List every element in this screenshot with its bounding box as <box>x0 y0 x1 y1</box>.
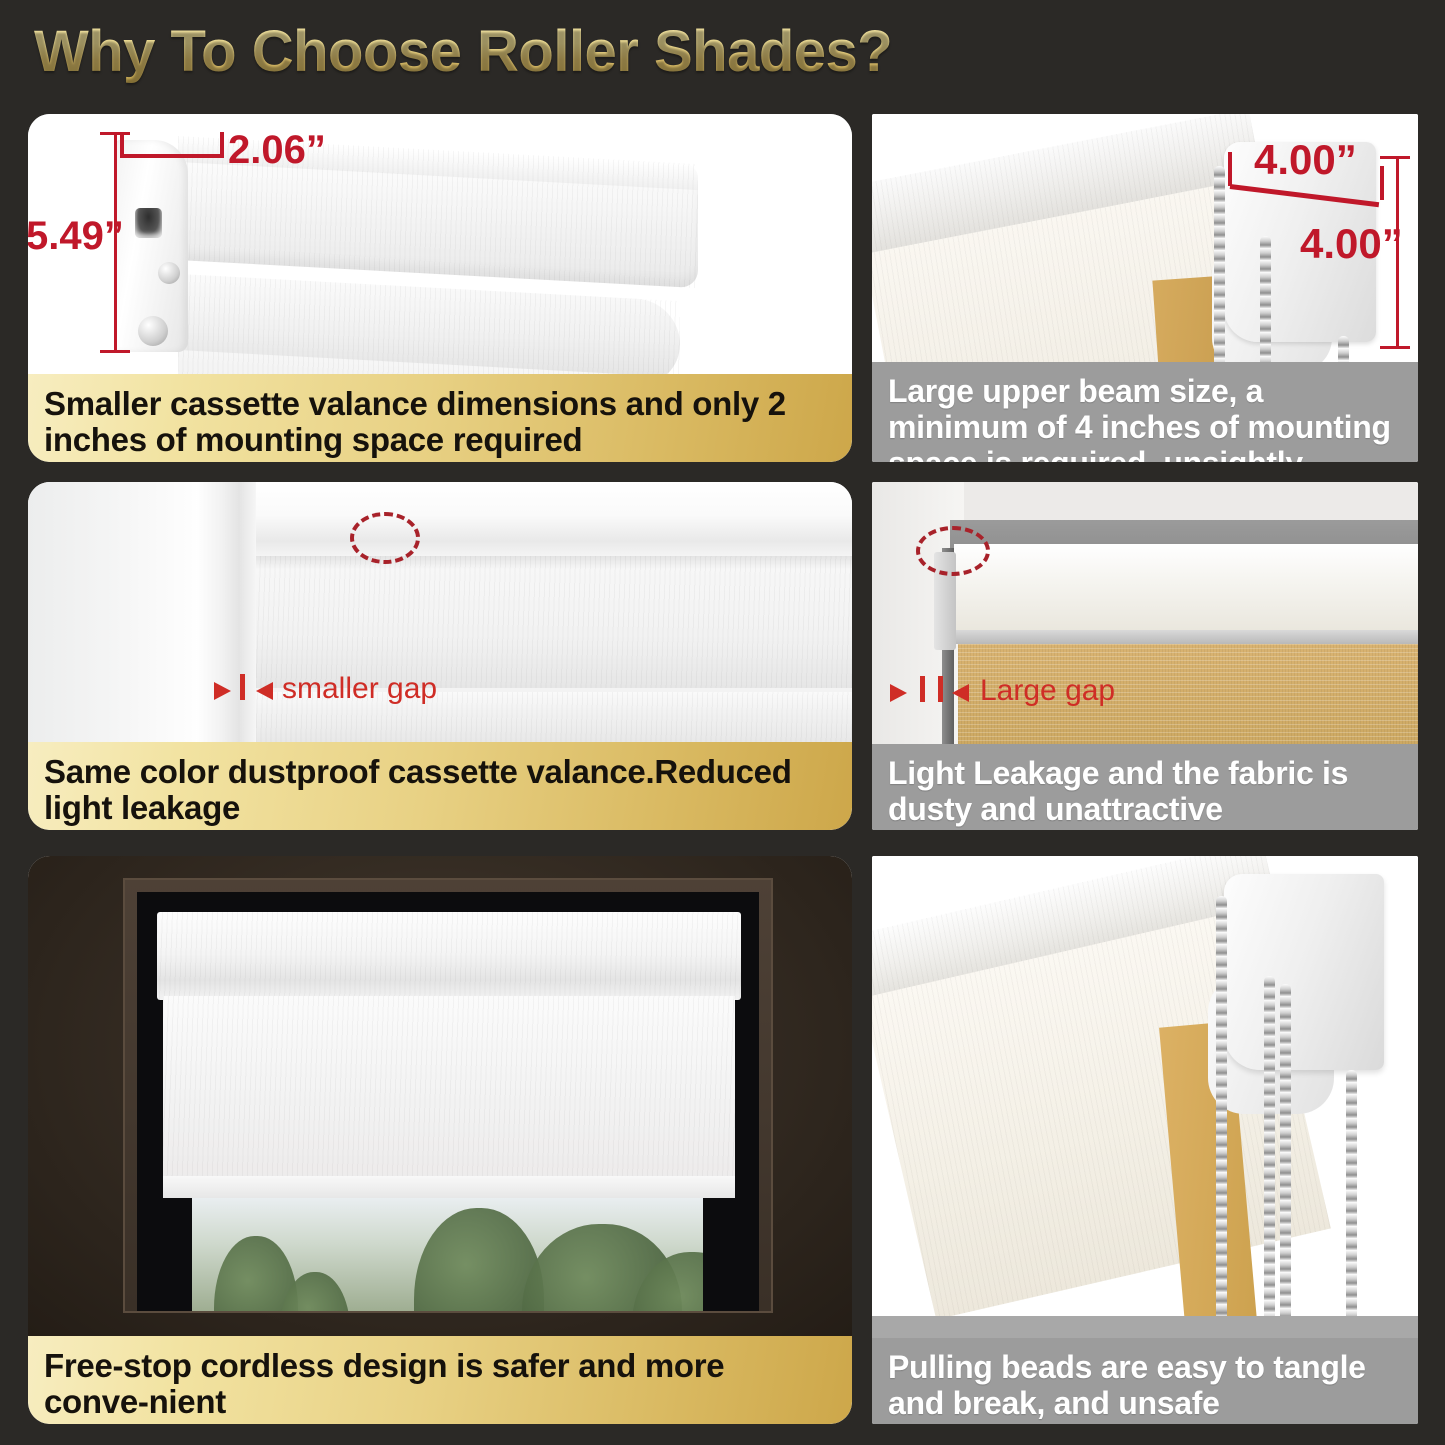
page-title: Why To Choose Roller Shades? <box>34 18 892 85</box>
gap-tick <box>938 676 943 702</box>
panel-2-caption-text: Large upper beam size, a minimum of 4 in… <box>888 374 1402 462</box>
width-dim-tick-left <box>1228 152 1232 186</box>
height-dim-tick-bottom <box>100 350 130 353</box>
panel-cordless-design: Free-stop cordless design is safer and m… <box>28 856 852 1424</box>
panel-3-photo: smaller gap <box>28 482 852 742</box>
gap-arrow-left <box>214 682 231 700</box>
panel-5-caption-band: Free-stop cordless design is safer and m… <box>28 1336 852 1424</box>
panel-3-caption-band: Same color dustproof cassette valance.Re… <box>28 742 852 830</box>
gap-arrow-right <box>952 684 969 702</box>
highlight-ellipse <box>350 512 420 564</box>
panel-large-beam: 4.00” 4.00” Large upper beam size, a min… <box>872 114 1418 462</box>
panel-smaller-cassette: 2.06” 5.49” Smaller cassette valance dim… <box>28 114 852 462</box>
roller-shade-fabric <box>163 996 735 1192</box>
panel-6-caption-text: Pulling beads are easy to tangle and bre… <box>888 1350 1402 1422</box>
panel-5-caption-text: Free-stop cordless design is safer and m… <box>44 1348 836 1420</box>
gap-tick <box>240 674 245 700</box>
panel-light-leakage: Large gap Light Leakage and the fabric i… <box>872 482 1418 830</box>
highlight-ellipse <box>916 526 990 576</box>
width-dim-tick-right <box>1380 166 1384 200</box>
width-dim-tick-right <box>220 132 224 158</box>
panel-3-caption-text: Same color dustproof cassette valance.Re… <box>44 754 836 826</box>
height-dim-tick-bottom <box>1380 346 1410 349</box>
bottom-rail <box>163 1176 735 1198</box>
bead-chain <box>1260 236 1271 376</box>
bead-chain <box>1216 896 1227 1324</box>
infographic-root: Why To Choose Roller Shades? 2.06” 5. <box>0 0 1445 1445</box>
bead-chain <box>1280 984 1291 1324</box>
height-dimension-label: 5.49” <box>28 214 124 259</box>
bead-chain <box>1346 1070 1357 1324</box>
panel-4-caption-text: Light Leakage and the fabric is dusty an… <box>888 756 1402 828</box>
panel-6-photo <box>872 856 1418 1338</box>
height-dim-tick-top <box>1380 156 1410 159</box>
panel-2-caption-band: Large upper beam size, a minimum of 4 in… <box>872 362 1418 462</box>
height-dimension-label: 4.00” <box>1300 220 1403 268</box>
panel-2-photo: 4.00” 4.00” <box>872 114 1418 376</box>
bead-chain <box>1264 976 1275 1324</box>
panel-1-caption-text: Smaller cassette valance dimensions and … <box>44 386 836 458</box>
width-dimension-label: 4.00” <box>1254 136 1357 184</box>
gap-arrow-left <box>890 684 907 702</box>
gap-tick <box>920 676 925 702</box>
width-dim-tick-left <box>120 132 124 158</box>
bead-chain <box>1214 166 1225 376</box>
panel-pulling-beads: Pulling beads are easy to tangle and bre… <box>872 856 1418 1424</box>
panel-1-caption-band: Smaller cassette valance dimensions and … <box>28 374 852 462</box>
panel-4-caption-band: Light Leakage and the fabric is dusty an… <box>872 744 1418 830</box>
panel-5-photo <box>28 856 852 1336</box>
cassette-valance <box>157 912 741 1000</box>
gap-callout-label: smaller gap <box>282 672 437 706</box>
gap-callout-label: Large gap <box>980 674 1115 708</box>
panel-dustproof-valance: smaller gap Same color dustproof cassett… <box>28 482 852 830</box>
width-dim-line <box>120 154 224 158</box>
gap-arrow-right <box>256 682 273 700</box>
panel-6-caption-band: Pulling beads are easy to tangle and bre… <box>872 1338 1418 1424</box>
height-dim-tick-top <box>100 132 130 135</box>
width-dimension-label: 2.06” <box>228 128 326 173</box>
window-glass <box>192 1198 703 1311</box>
panel-1-photo: 2.06” 5.49” <box>28 114 852 374</box>
panel-4-photo: Large gap <box>872 482 1418 744</box>
